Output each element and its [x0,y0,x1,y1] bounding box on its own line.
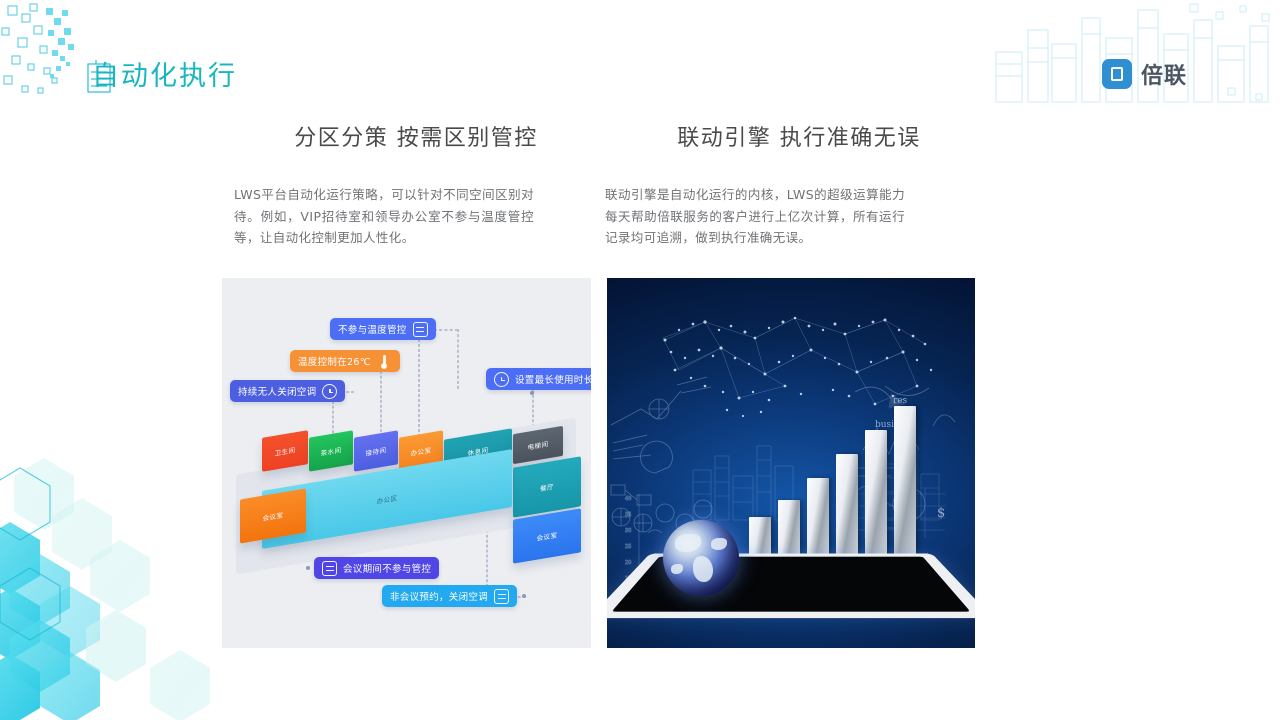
bar-3 [807,478,829,562]
column-left-heading: 分区分策 按需区别管控 [240,120,592,152]
globe-icon [663,520,739,596]
data-visual-panel: res business $ [607,278,975,648]
brand-name: 倍联 [1141,58,1187,90]
slide-root: 自动化执行 倍联 分区分策 按需区别管控 LWS平台自动化运行策略，可以针对不同… [0,0,1280,720]
svg-text:30: 30 [625,528,631,534]
chip-max-usage-duration[interactable]: 设置最长使用时长 [486,368,591,390]
chip-unoccupied-shutdown[interactable]: 持续无人关闭空调 [230,380,345,402]
column-left: 分区分策 按需区别管控 LWS平台自动化运行策略，可以针对不同空间区别对待。例如… [222,120,592,249]
room-label: 卫生间 [262,442,308,460]
decoration-bottom-left-hexagons [0,390,210,720]
meeting-icon [322,561,337,576]
thermometer-icon [377,354,392,369]
chip-label: 温度控制在26℃ [298,354,371,368]
column-right-body: 联动引擎是自动化运行的内核，LWS的超级运算能力每天帮助倍联服务的客户进行上亿次… [605,184,905,249]
floorplan-3d: 卫生间 茶水间 接待间 办公室 休息间 电梯间 餐厅 [228,418,586,578]
bar-4 [836,454,858,562]
brand-logo: 倍联 [1102,58,1187,90]
room-label: 餐厅 [513,476,581,497]
svg-text:20: 20 [625,560,631,566]
room-label: 电梯间 [513,436,563,454]
connector-dot [522,594,526,598]
room-label: 茶水间 [309,442,353,459]
chip-label: 会议期间不参与管控 [343,561,431,575]
clock-icon [494,372,509,387]
bar-6 [894,406,916,562]
brand-mark-icon [1102,59,1132,89]
room-label: 会议室 [513,525,581,546]
chip-no-booking-shutdown[interactable]: 非会议预约，关闭空调 [382,585,517,607]
svg-text:25: 25 [625,544,631,550]
room-label: 办公室 [399,442,443,459]
svg-text:40: 40 [625,496,631,502]
page-title: 自动化执行 [92,54,237,93]
chip-label: 不参与温度管控 [338,322,407,336]
list-panel-icon [413,322,428,337]
bar-chart-3d [749,406,916,562]
floorplan-panel: 卫生间 茶水间 接待间 办公室 休息间 电梯间 餐厅 [222,278,591,648]
room-label: 会议室 [240,505,306,526]
chip-label: 设置最长使用时长 [515,372,591,386]
svg-text:35: 35 [625,512,631,518]
room-label: 接待间 [354,442,398,459]
chip-label: 非会议预约，关闭空调 [390,589,488,603]
motion-sensor-icon [322,384,337,399]
chip-label: 持续无人关闭空调 [238,384,316,398]
chip-no-temperature-control[interactable]: 不参与温度管控 [330,318,436,340]
column-right: 联动引擎 执行准确无误 联动引擎是自动化运行的内核，LWS的超级运算能力每天帮助… [605,120,975,249]
chip-meeting-exempt[interactable]: 会议期间不参与管控 [314,557,439,579]
bar-5 [865,430,887,562]
chip-temperature-26[interactable]: 温度控制在26℃ [290,350,400,372]
column-left-body: LWS平台自动化运行策略，可以针对不同空间区别对待。例如，VIP招待室和领导办公… [234,184,534,249]
connector-line [457,329,459,389]
calendar-icon [494,589,509,604]
tablet-device [607,553,975,618]
column-right-heading: 联动引擎 执行准确无误 [623,120,975,152]
connector-dot [530,391,534,395]
